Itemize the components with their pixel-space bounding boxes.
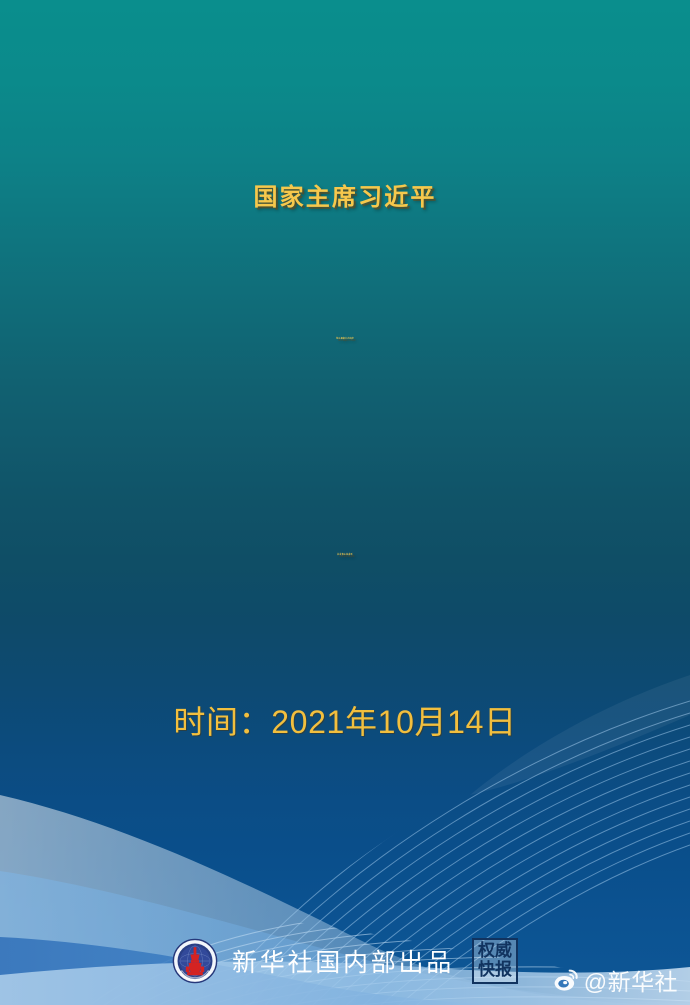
authority-stamp: 权威 快报 (472, 938, 518, 984)
headline-line-4: 并发表主旨讲话 (0, 528, 690, 582)
producer-credit-text: 新华社国内部出品 (232, 943, 454, 979)
poster-canvas: 国家主席习近平 将以视频方式出席 第二届联合国全球可持续交通大会开幕式 并发表主… (0, 0, 690, 1005)
stamp-line-top: 权威 (478, 942, 512, 961)
headline-title: 国家主席习近平 (0, 158, 690, 236)
event-date-text: 时间：2021年10月14日 (0, 702, 690, 742)
weibo-icon (553, 967, 579, 993)
weibo-handle-text: @新华社 (584, 963, 678, 997)
stamp-line-bottom: 快报 (478, 961, 512, 980)
weibo-watermark: @新华社 (553, 963, 678, 997)
xinhua-agency-logo-icon (172, 938, 218, 984)
headline-line-3: 第二届联合国全球可持续交通大会开幕式 (0, 418, 690, 468)
headline-line-2: 将以视频方式出席 (0, 312, 690, 366)
